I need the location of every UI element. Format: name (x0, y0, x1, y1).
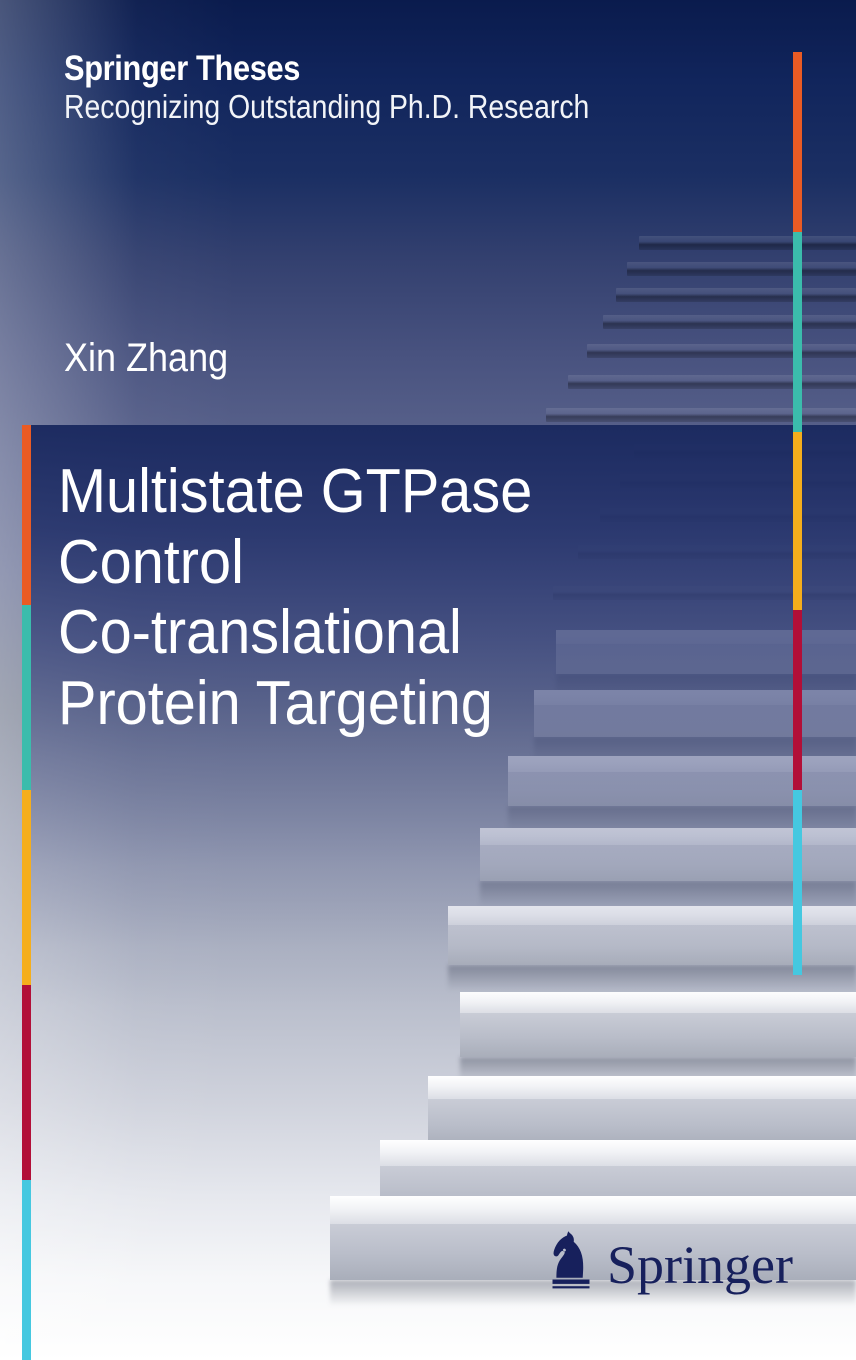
color-rule-segment-cyan (793, 790, 802, 975)
color-rule-segment-crimson (793, 610, 802, 790)
book-cover: Springer Theses Recognizing Outstanding … (0, 0, 856, 1360)
color-rule-segment-orange (793, 52, 802, 232)
knight-chess-piece-icon (545, 1228, 597, 1292)
book-title: Multistate GTPaseControlCo-translational… (58, 457, 661, 740)
color-rule-segment-gold (793, 432, 802, 610)
book-title-line: Multistate GTPase (58, 457, 661, 528)
publisher-name: Springer (607, 1238, 793, 1292)
book-title-line: Protein Targeting (58, 669, 661, 740)
series-tagline: Recognizing Outstanding Ph.D. Research (64, 89, 683, 126)
author-name: Xin Zhang (64, 336, 228, 381)
color-rule-right (793, 52, 802, 975)
color-rule-segment-gold (22, 790, 31, 985)
series-header: Springer Theses Recognizing Outstanding … (64, 50, 784, 126)
color-rule-segment-crimson (22, 985, 31, 1180)
title-panel: Multistate GTPaseControlCo-translational… (22, 425, 856, 1005)
book-title-line: Co-translational (58, 598, 661, 669)
color-rule-left (22, 425, 31, 1360)
color-rule-segment-teal (793, 232, 802, 432)
color-rule-segment-cyan (22, 1180, 31, 1360)
series-title: Springer Theses (64, 50, 698, 87)
publisher-logo: Springer (545, 1228, 793, 1292)
color-rule-segment-teal (22, 605, 31, 790)
book-title-line: Control (58, 528, 661, 599)
color-rule-segment-orange (22, 425, 31, 605)
